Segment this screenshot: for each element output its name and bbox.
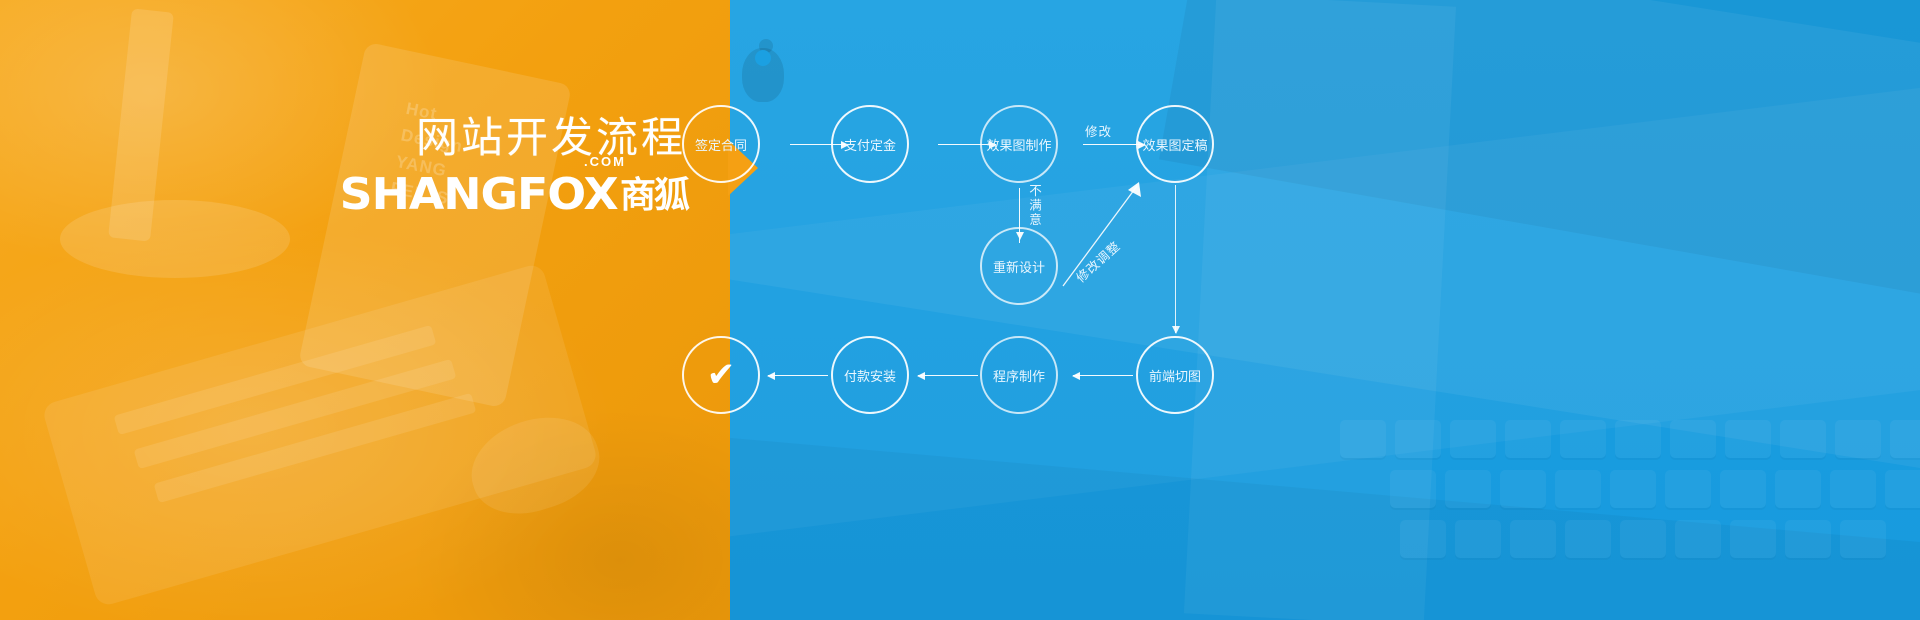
- flow-node-sign-contract[interactable]: 签定合同: [682, 105, 760, 183]
- flow-node-label: 签定合同: [695, 135, 747, 154]
- flow-node-program-production[interactable]: 程序制作: [980, 336, 1058, 414]
- flow-node-label: 支付定金: [844, 135, 896, 154]
- flow-node-mockup-production[interactable]: 效果图制作: [980, 105, 1058, 183]
- flow-node-label: 重新设计: [993, 257, 1045, 276]
- flow-node-label: 付款安装: [844, 366, 896, 385]
- flow-node-complete[interactable]: ✔: [682, 336, 760, 414]
- banner-stage: HotDesignYANGFEILIS 网站开发流程 .COM SHANGFOX…: [0, 0, 1920, 620]
- flow-arrow-7: [1073, 375, 1133, 376]
- flow-node-label: 程序制作: [993, 366, 1045, 385]
- flow-arrow-9: [768, 375, 828, 376]
- flow-node-label: 效果图定稿: [1142, 135, 1207, 154]
- flow-node-pay-deposit[interactable]: 支付定金: [831, 105, 909, 183]
- workflow-diagram: 签定合同 支付定金 效果图制作 修改 效果图定稿 不满意 重新设计 修改调整: [0, 0, 1920, 620]
- flow-node-label: 效果图制作: [986, 135, 1051, 154]
- flow-node-payment-install[interactable]: 付款安装: [831, 336, 909, 414]
- flow-edge-label-revise: 修改: [1085, 121, 1112, 140]
- flow-node-mockup-final[interactable]: 效果图定稿: [1136, 105, 1214, 183]
- check-icon: ✔: [707, 358, 736, 392]
- flow-arrow-6: [1175, 185, 1176, 333]
- flow-edge-label-unsatisfied: 不满意: [1025, 184, 1044, 228]
- flow-node-redesign[interactable]: 重新设计: [980, 227, 1058, 305]
- flow-arrow-8: [918, 375, 978, 376]
- flow-node-frontend-slicing[interactable]: 前端切图: [1136, 336, 1214, 414]
- flow-node-label: 前端切图: [1149, 366, 1201, 385]
